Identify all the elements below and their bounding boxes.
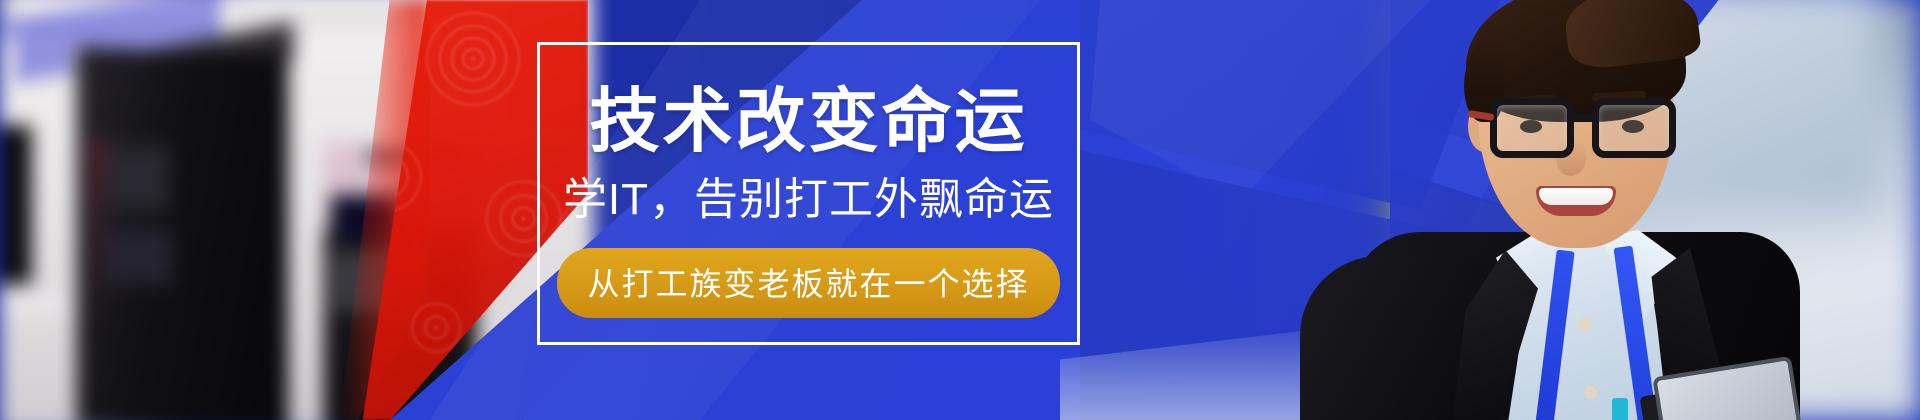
pc-tower-glow	[87, 136, 106, 327]
eyeglass-lens-left	[1490, 98, 1574, 158]
shirt-button-lower	[1584, 386, 1597, 399]
lab-monitor	[0, 125, 32, 284]
teeth	[1539, 188, 1613, 205]
shirt-button-upper	[1578, 318, 1591, 331]
pc-tower-panel	[106, 146, 170, 210]
promo-banner: 技术改变命运 学IT，告别打工外飘命运 从打工族变老板就在一个选择	[0, 0, 1920, 420]
smiling-mouth	[1536, 186, 1616, 216]
ceiling-light-secondary	[244, 0, 403, 19]
banner-subtitle: 学IT，告别打工外飘命运	[563, 178, 1054, 222]
eyeglasses-icon	[1486, 98, 1688, 160]
eyeglass-bridge	[1574, 114, 1594, 121]
cta-button[interactable]: 从打工族变老板就在一个选择	[557, 248, 1059, 318]
businessman-portrait	[1360, 0, 1790, 420]
lanyard-badge-clip	[1612, 398, 1628, 420]
pc-tower-panel-lower	[106, 229, 172, 284]
banner-text-block: 技术改变命运 学IT，告别打工外飘命运 从打工族变老板就在一个选择	[537, 42, 1080, 345]
banner-headline: 技术改变命运	[590, 86, 1028, 156]
eyeglass-lens-right	[1592, 98, 1676, 158]
lab-desk	[0, 295, 74, 314]
